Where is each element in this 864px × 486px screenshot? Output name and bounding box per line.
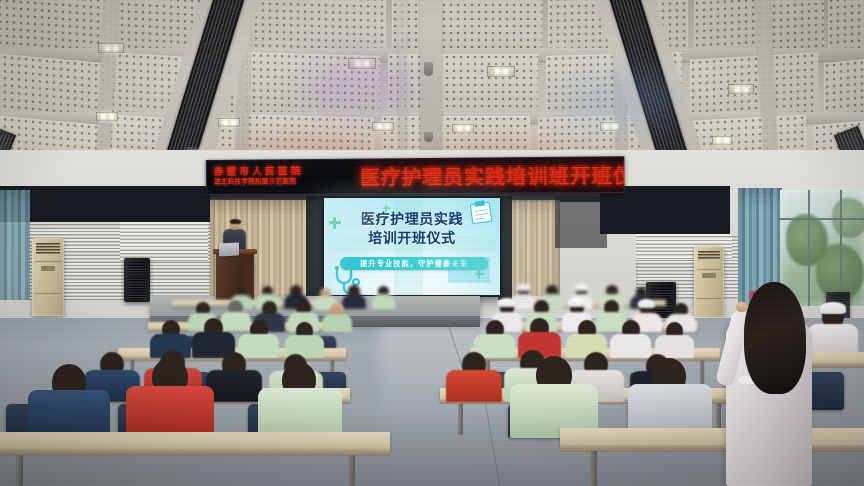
- ceiling-light: [98, 43, 124, 53]
- screen-title-line2: 培训开班仪式: [368, 231, 456, 247]
- ceiling-light: [218, 118, 240, 127]
- nurse-cap-icon: [820, 302, 846, 314]
- ceiling-light: [600, 122, 620, 131]
- ceiling-light: [348, 58, 376, 69]
- air-conditioner-unit-left: [32, 238, 64, 316]
- wall-dark-band-right: [600, 186, 730, 234]
- screen-title-line1: 医疗护理员实践: [361, 212, 463, 228]
- projection-screen: 医疗护理员实践 培训开班仪式 提升专业技能，守护健康未来: [322, 196, 502, 297]
- standing-photographer: [700, 282, 820, 486]
- loudspeaker-cabinet-left: [124, 258, 150, 302]
- led-banner-main-text: 医疗护理员实践培训班开班仪式: [360, 160, 624, 190]
- lecture-hall-photo: 赤壁市人民医院 湖北科技学院附属示范医院 医疗护理员实践培训班开班仪式 医疗护理…: [0, 0, 864, 486]
- wall-panel-left-upper: [555, 196, 607, 248]
- wall-dark-band-left: [0, 186, 210, 222]
- ceiling-light: [712, 136, 732, 145]
- ceiling-light: [96, 112, 118, 121]
- clipboard-icon: [470, 202, 493, 225]
- window-curtain: [0, 190, 30, 300]
- ceiling-light: [728, 84, 754, 94]
- laptop-on-podium: [219, 242, 239, 256]
- hair: [744, 282, 806, 394]
- led-hospital-subtitle: 湖北科技学院附属示范医院: [214, 178, 360, 187]
- ceiling-speaker: [424, 62, 433, 76]
- ceiling-light: [487, 66, 515, 77]
- hand-left: [736, 302, 747, 312]
- podium: [216, 252, 254, 300]
- ceiling-light: [372, 122, 394, 131]
- desk: [0, 432, 390, 450]
- wall-louver-left-upper: [120, 222, 208, 262]
- ceiling-speaker: [424, 132, 433, 142]
- ceiling-light: [452, 124, 474, 133]
- led-banner: 赤壁市人民医院 湖北科技学院附属示范医院 医疗护理员实践培训班开班仪式: [206, 156, 625, 195]
- led-banner-left-block: 赤壁市人民医院 湖北科技学院附属示范医院: [206, 167, 360, 187]
